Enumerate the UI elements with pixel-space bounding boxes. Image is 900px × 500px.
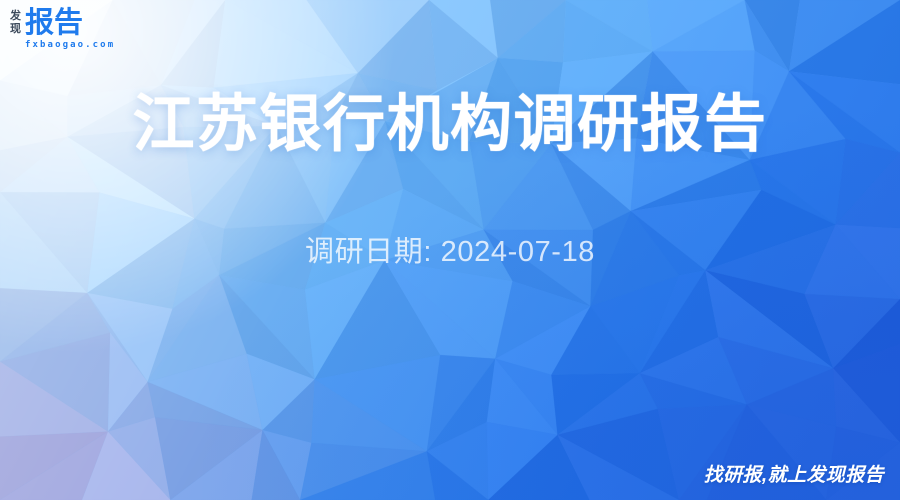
logo-text-group: 报告 fxbaogao.com [25,9,115,50]
cover-subtitle-survey-date: 调研日期: 2024-07-18 [0,232,900,272]
logo-wordmark: 报告 [25,9,115,38]
footer-tagline: 找研报,就上发现报告 [704,464,884,488]
logo-mark-char-fa: 发 [10,10,21,23]
cover-title: 江苏银行机构调研报告 [0,88,900,162]
logo-mark-characters: 发 现 [10,9,21,35]
brand-logo[interactable]: 发 现 报告 fxbaogao.com [10,9,115,50]
logo-domain-text: fxbaogao.com [25,40,115,50]
report-cover-page: 发 现 报告 fxbaogao.com 江苏银行机构调研报告 调研日期: 202… [0,0,900,500]
logo-mark-char-xian: 现 [10,23,21,36]
